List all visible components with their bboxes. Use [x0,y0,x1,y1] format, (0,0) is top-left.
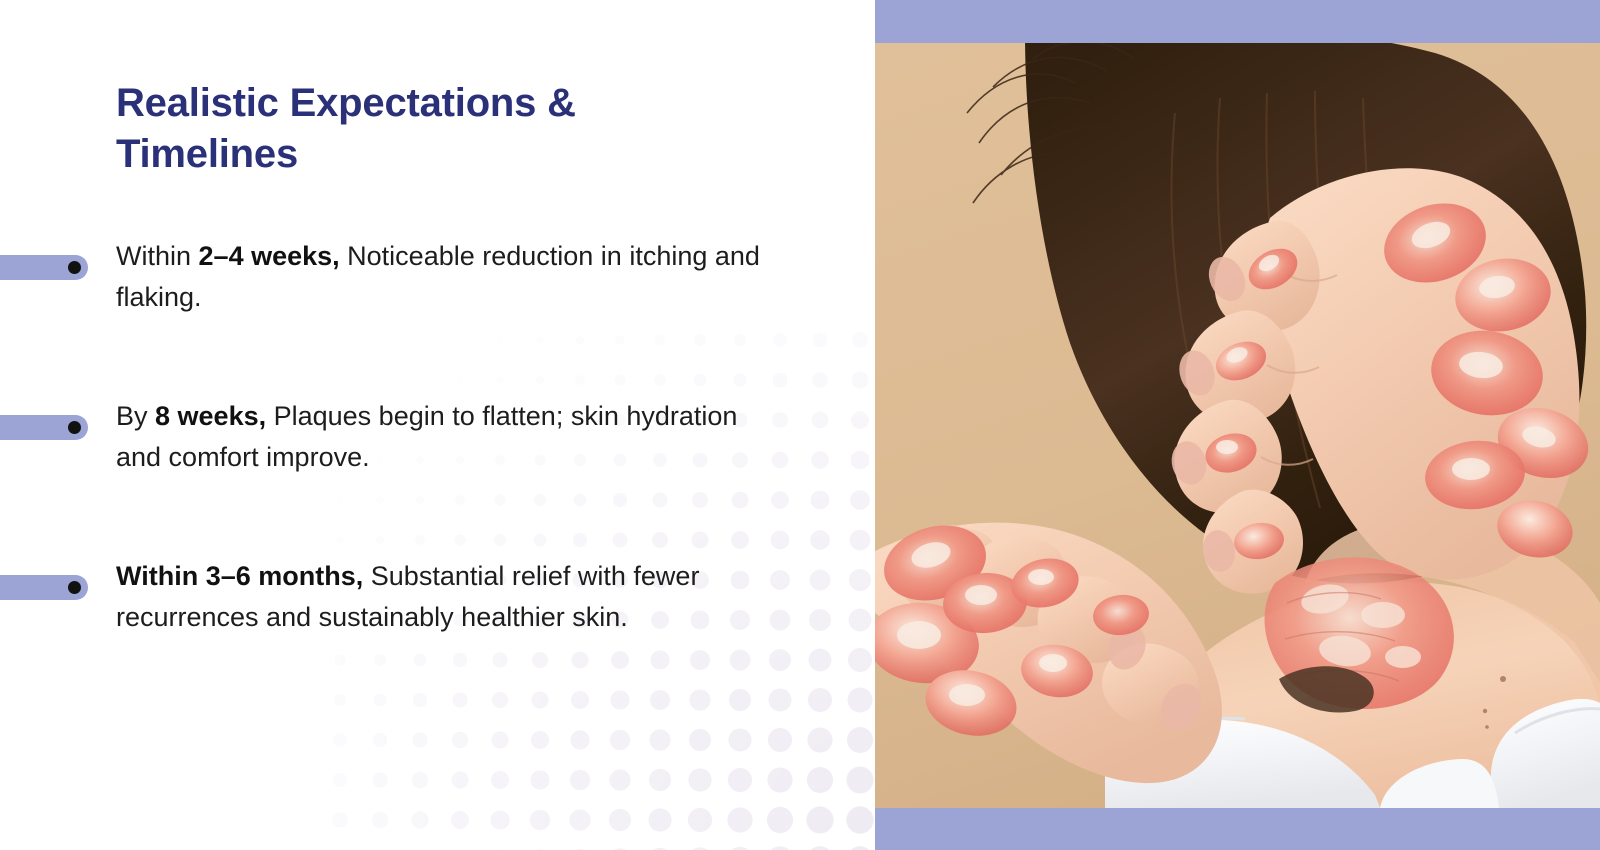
content-panel: Realistic Expectations & Timelines Withi… [0,0,875,850]
image-panel [875,0,1600,850]
list-item-emphasis: 8 weeks, [155,401,266,431]
list-item-emphasis: Within 3–6 months, [116,561,363,591]
accent-band-top [875,0,1600,43]
accent-band-bottom [875,808,1600,850]
list-item-lead: By [116,401,155,431]
list-item-text: By 8 weeks, Plaques begin to flatten; sk… [116,396,766,478]
list-item: Within 3–6 months, Substantial relief wi… [0,556,875,676]
list-item-emphasis: 2–4 weeks, [199,241,340,271]
list-item: By 8 weeks, Plaques begin to flatten; sk… [0,396,875,516]
bullet-dot-icon [68,581,81,594]
page-title: Realistic Expectations & Timelines [116,78,756,180]
bullet-dot-icon [68,421,81,434]
list-item-text: Within 2–4 weeks, Noticeable reduction i… [116,236,766,318]
list-item-text: Within 3–6 months, Substantial relief wi… [116,556,766,638]
list-item: Within 2–4 weeks, Noticeable reduction i… [0,236,875,356]
slide-root: Realistic Expectations & Timelines Withi… [0,0,1600,850]
bullet-dot-icon [68,261,81,274]
timeline-bullet-list: Within 2–4 weeks, Noticeable reduction i… [0,236,875,676]
psoriasis-photo [875,43,1600,808]
list-item-lead: Within [116,241,199,271]
